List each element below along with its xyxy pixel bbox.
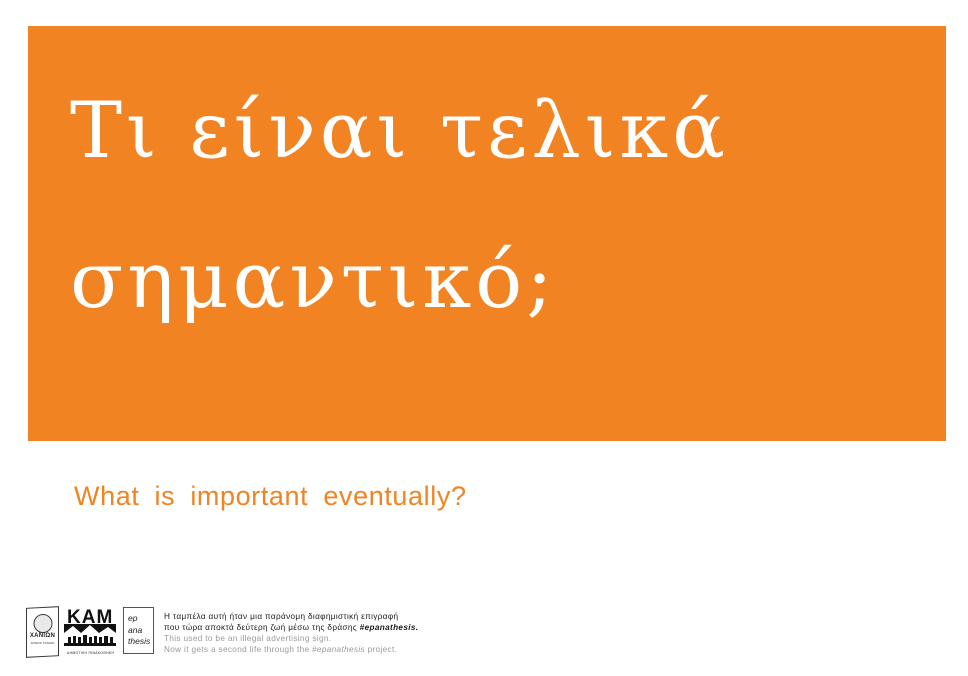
footer-greek-line-2: που τώρα αποκτά δεύτερη ζωή μέσω της δρά… (164, 622, 418, 633)
seal-subtext: ΔΗΜΟΣ ΧΑΝΙΩΝ (28, 641, 57, 645)
footer-text-block: Η ταμπέλα αυτή ήταν μια παράνομη διαφημι… (164, 607, 418, 655)
footer-greek-line-1: Η ταμπέλα αυτή ήταν μια παράνομη διαφημι… (164, 611, 418, 622)
page-title: Τι είναι τελικά σημαντικό; (70, 56, 906, 356)
footer-english-line-2-prefix: Now it gets a second life through the (164, 645, 312, 654)
footer-english-line-1: This used to be an illegal advertising s… (164, 633, 418, 644)
footer-english-hashtag: #epanathesis (312, 645, 365, 654)
footer-greek-hashtag: #epanathesis. (360, 623, 419, 632)
epanathesis-line-3: thesis (128, 636, 153, 648)
seal-emblem-icon (33, 614, 52, 633)
footer: ΧΑΝΙΩΝ ΔΗΜΟΣ ΧΑΝΙΩΝ ΚΑΜ ΔΗΜΟΤΙΚΗ ΠΙΝΑΚΟΘ… (26, 607, 418, 657)
kam-logo: ΚΑΜ ΔΗΜΟΤΙΚΗ ΠΙΝΑΚΟΘΗΚΗ (64, 607, 116, 655)
kam-building-icon (64, 624, 116, 646)
seal-wordmark: ΧΑΝΙΩΝ (26, 633, 59, 639)
footer-english-line-2: Now it gets a second life through the #e… (164, 644, 418, 655)
poster-canvas: Τι είναι τελικά σημαντικό; What is impor… (0, 0, 968, 676)
municipality-seal-logo: ΧΑΝΙΩΝ ΔΗΜΟΣ ΧΑΝΙΩΝ (26, 607, 59, 657)
epanathesis-line-1: ep (128, 613, 153, 625)
headline-panel: Τι είναι τελικά σημαντικό; (28, 26, 946, 441)
epanathesis-logo: ep ana thesis (123, 607, 154, 654)
footer-greek-line-2-prefix: που τώρα αποκτά δεύτερη ζωή μέσω της δρά… (164, 623, 360, 632)
subtitle-translation: What is important eventually? (74, 481, 467, 512)
footer-english-line-2-suffix: project. (365, 645, 397, 654)
kam-caption: ΔΗΜΟΤΙΚΗ ΠΙΝΑΚΟΘΗΚΗ (67, 651, 114, 655)
epanathesis-line-2: ana (128, 625, 153, 637)
